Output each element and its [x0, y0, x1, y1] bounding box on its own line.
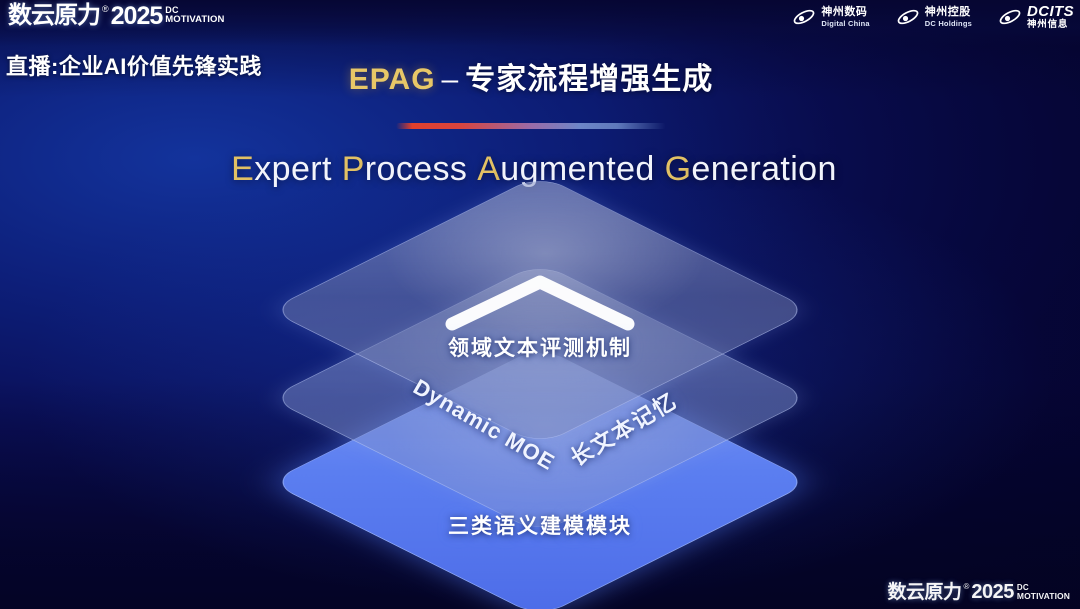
watermark-motivation-label: MOTIVATION: [1017, 592, 1070, 600]
subtitle-cap-a: A: [477, 150, 500, 188]
partner-name-cn: 神州信息: [1027, 20, 1074, 30]
brand-motivation-label: MOTIVATION: [165, 15, 224, 24]
brand-dc-motivation: DC MOTIVATION: [165, 6, 224, 24]
partner-logo-dcits: DCITS 神州信息: [998, 4, 1074, 30]
swirl-icon: [998, 6, 1022, 28]
swirl-icon: [896, 6, 920, 28]
partner-logo-dc-holdings: 神州控股 DC Holdings: [896, 6, 972, 28]
slide-canvas: 数云原力 ® 2025 DC MOTIVATION 直播:企业AI价值先锋实践 …: [0, 0, 1080, 609]
subtitle-cap-e: E: [231, 150, 254, 188]
partner-name-cn: 神州控股: [925, 7, 972, 18]
layered-architecture-diagram: 领域文本评测机制 Dynamic MOE 长文本记忆 三类语义建模模块: [286, 222, 794, 582]
watermark-name-cn: 数云原力: [887, 582, 961, 603]
title-acronym: EPAG: [349, 63, 436, 96]
diagram-label-top: 领域文本评测机制: [286, 332, 794, 362]
swirl-icon: [792, 6, 816, 28]
partner-name-en: DCITS: [1027, 4, 1074, 19]
brand-logo: 数云原力 ® 2025 DC MOTIVATION: [8, 3, 225, 29]
accent-gradient-rule: [396, 123, 666, 129]
diagram-label-bottom: 三类语义建模模块: [286, 510, 794, 540]
partner-label-dc-holdings: 神州控股 DC Holdings: [925, 7, 972, 28]
title-dash: –: [436, 63, 466, 96]
footer-watermark-logo: 数云原力 ® 2025 DC MOTIVATION: [887, 582, 1070, 603]
title-chinese: 专家流程增强生成: [465, 63, 713, 96]
partner-label-dcits: DCITS 神州信息: [1027, 4, 1074, 30]
subtitle-cap-p: P: [342, 150, 365, 188]
subtitle-rest-process: rocess: [365, 150, 468, 188]
subtitle-rest-expert: xpert: [254, 150, 332, 188]
brand-registered-mark: ®: [102, 3, 109, 15]
watermark-registered-mark: ®: [963, 582, 969, 592]
partner-name-en: DC Holdings: [925, 20, 972, 28]
partner-logo-group: 神州数码 Digital China 神州控股 DC Holdings: [792, 4, 1074, 30]
partner-label-digital-china: 神州数码 Digital China: [821, 7, 869, 28]
partner-name-en: Digital China: [821, 20, 869, 28]
page-title: EPAG–专家流程增强生成: [0, 54, 1071, 98]
brand-year: 2025: [111, 3, 163, 29]
subtitle-cap-g: G: [665, 150, 692, 188]
brand-name-cn: 数云原力: [8, 3, 100, 29]
watermark-year: 2025: [971, 582, 1014, 603]
subtitle-rest-generation: eneration: [691, 150, 836, 188]
partner-name-cn: 神州数码: [821, 7, 869, 18]
watermark-dc-motivation: DC MOTIVATION: [1017, 584, 1070, 600]
partner-logo-digital-china: 神州数码 Digital China: [792, 6, 869, 28]
